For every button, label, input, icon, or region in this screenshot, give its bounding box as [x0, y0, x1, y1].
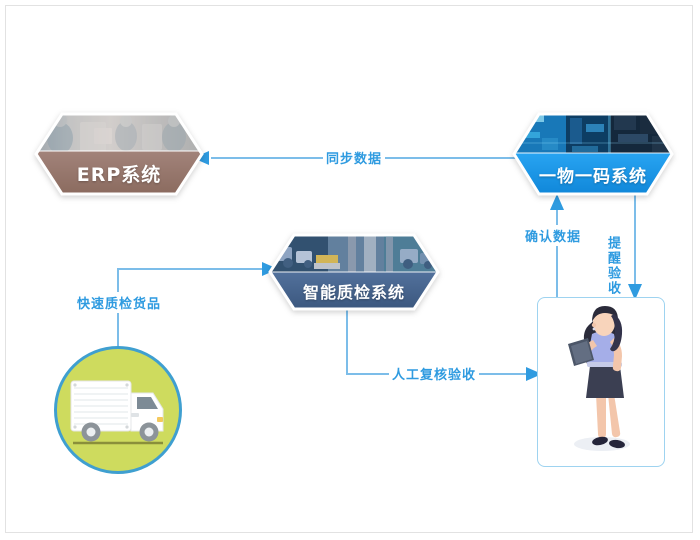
woman-with-tablet-icon — [538, 298, 663, 465]
inspector-card — [537, 297, 665, 467]
delivery-truck-icon — [57, 349, 179, 471]
edge-remind-acceptance — [625, 192, 645, 302]
edge-label-manual-review: 人工复核验收 — [389, 363, 479, 384]
node-code-system[interactable]: 一物一码系统 — [512, 112, 674, 196]
edge-confirm-data — [547, 192, 567, 302]
edge-label-remind-acceptance: 提醒验收 — [600, 235, 625, 297]
diagram-canvas: 同步数据 确认数据 提醒验收 快速质检货品 人工复核验收 — [5, 5, 693, 533]
node-erp-system[interactable]: ERP系统 — [34, 112, 204, 196]
truck-circle — [54, 346, 182, 474]
edge-label-confirm-data: 确认数据 — [522, 225, 584, 246]
node-qc-system[interactable]: 智能质检系统 — [268, 233, 440, 311]
edge-label-sync-data: 同步数据 — [323, 147, 385, 168]
edge-label-quick-qc: 快速质检货品 — [74, 292, 164, 313]
